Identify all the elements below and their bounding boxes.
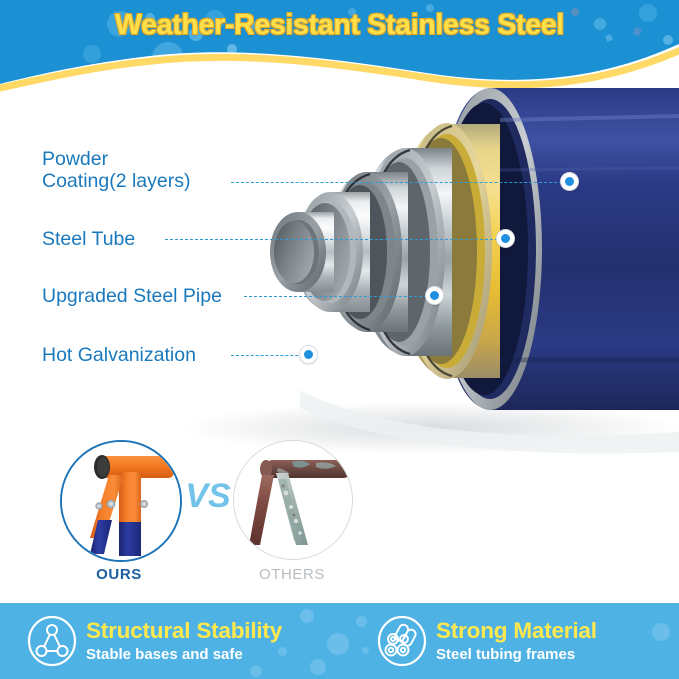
powder-coating-marker — [561, 173, 578, 190]
comparison-section: OURS VS — [45, 437, 395, 592]
triangle-nodes-icon — [26, 615, 78, 667]
ours-photo — [60, 440, 182, 562]
others-photo — [233, 440, 353, 560]
leader-line-steel-tube — [165, 239, 503, 240]
spec-label-steel-tube: Steel Tube — [42, 228, 135, 250]
vs-label: VS — [181, 477, 235, 516]
leader-line-powder-coating — [231, 182, 567, 183]
feature-subtitle: Stable bases and safe — [86, 647, 282, 662]
spec-label-powder-coating: Powder Coating(2 layers) — [42, 148, 190, 192]
feature-subtitle: Steel tubing frames — [436, 647, 597, 662]
steel-tube-marker — [497, 230, 514, 247]
hot-galvanization-marker — [300, 346, 317, 363]
spec-label-line-1: Powder — [42, 148, 190, 170]
feature-structural-stability: Structural Stability Stable bases and sa… — [26, 615, 282, 667]
tube-bundle-icon — [376, 615, 428, 667]
feature-strong-material: Strong Material Steel tubing frames — [376, 615, 597, 667]
page-title: Weather-Resistant Stainless Steel — [0, 9, 679, 42]
ours-caption: OURS — [49, 566, 189, 583]
leader-line-upgraded-steel-pipe — [244, 296, 432, 297]
spec-label-line-2: Coating(2 layers) — [42, 170, 190, 192]
feature-title: Structural Stability — [86, 620, 282, 643]
spec-label-hot-galvanization: Hot Galvanization — [42, 344, 196, 366]
upgraded-steel-pipe-marker — [426, 287, 443, 304]
pipe-cutaway-illustration — [0, 60, 679, 460]
product-infographic: Weather-Resistant Stainless Steel — [0, 0, 679, 679]
spec-label-upgraded-steel-pipe: Upgraded Steel Pipe — [42, 285, 222, 307]
feature-title: Strong Material — [436, 620, 597, 643]
footer-band: Structural Stability Stable bases and sa… — [0, 603, 679, 679]
others-caption: OTHERS — [222, 566, 362, 583]
